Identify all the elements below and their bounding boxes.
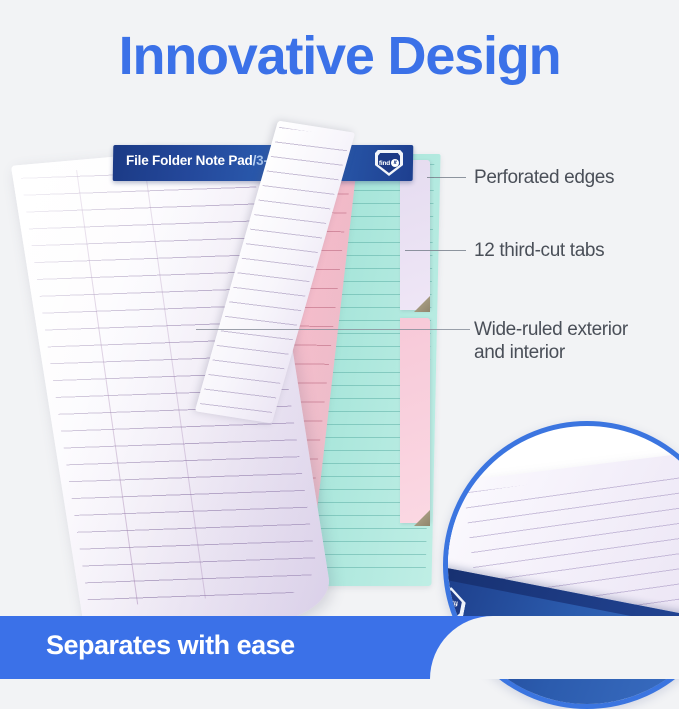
callout-line-third-cut-tabs [405, 250, 466, 251]
logo-mark: it [391, 159, 399, 167]
bottom-banner-text: Separates with ease [46, 630, 295, 661]
product-marketing-image: Innovative Design File Folder Note Pad/3… [0, 0, 679, 679]
product-photo: File Folder Note Pad/3-Tab find it [0, 118, 470, 618]
logo-word: find [379, 160, 390, 167]
callout-label-wide-ruled: Wide-ruled exterior and interior [474, 318, 628, 364]
callout-label-perforated-edges: Perforated edges [474, 166, 614, 189]
product-title: File Folder Note Pad [126, 153, 253, 168]
find-it-logo-icon: find it [375, 150, 403, 176]
callout-line-perforated-edges [427, 177, 466, 178]
lavender-third-cut-tab [400, 160, 430, 310]
bottom-banner: Separates with ease [0, 616, 679, 679]
find-it-logo-inner: find it [378, 153, 400, 173]
callout-label-third-cut-tabs: 12 third-cut tabs [474, 239, 604, 262]
page-title: Innovative Design [0, 28, 679, 85]
banner-circle-notch [430, 616, 679, 679]
callout-line-wide-ruled [196, 329, 470, 330]
pink-third-cut-tab [400, 318, 430, 523]
